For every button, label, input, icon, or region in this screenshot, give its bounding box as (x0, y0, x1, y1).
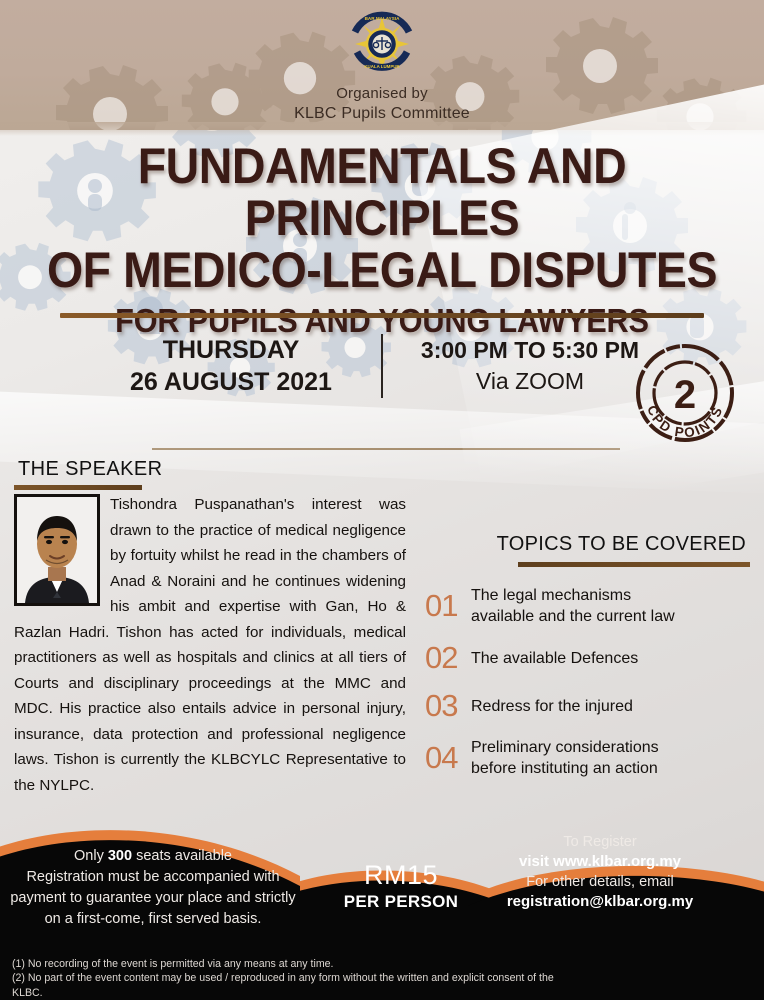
topic-number: 01 (425, 589, 471, 623)
cpd-points-value: 2 (674, 373, 696, 417)
event-date: 26 AUGUST 2021 (109, 366, 353, 398)
footer-notes: (1) No recording of the event is permitt… (12, 957, 762, 1000)
footer-note-2: (2) No part of the event content may be … (12, 971, 762, 986)
title-divider (60, 313, 704, 318)
bio-photo-indent (14, 492, 110, 610)
topic-label: The legal mechanismsavailable and the cu… (471, 585, 675, 627)
svg-text:KUALA LUMPUR: KUALA LUMPUR (364, 64, 400, 69)
seats-count: 300 (108, 848, 132, 864)
cpd-points-stamp: 2 CPD POINTS (630, 338, 740, 448)
topic-number: 02 (425, 641, 471, 675)
register-email[interactable]: registration@klbar.org.my (450, 892, 750, 912)
topic-item-01: 01 The legal mechanismsavailable and the… (425, 585, 755, 627)
event-date-block: THURSDAY 26 AUGUST 2021 (109, 334, 359, 398)
poster-root: BAR MALAYSIA KUALA LUMPUR Organised by K… (0, 0, 764, 1000)
topics-list: 01 The legal mechanismsavailable and the… (425, 585, 755, 793)
svg-text:BAR MALAYSIA: BAR MALAYSIA (365, 16, 400, 21)
meta-separator (381, 334, 383, 398)
topic-number: 03 (425, 689, 471, 723)
footer-content: Only 300 seats available Registration mu… (0, 810, 764, 1000)
topic-item-03: 03 Redress for the injured (425, 689, 755, 723)
klbc-crest-logo-icon: BAR MALAYSIA KUALA LUMPUR (345, 4, 419, 78)
speaker-section-title: THE SPEAKER (18, 458, 162, 481)
title-line-2: OF MEDICO-LEGAL DISPUTES (27, 244, 738, 296)
seats-post: seats available (132, 848, 232, 864)
meta-divider (152, 448, 620, 450)
topic-label: The available Defences (471, 648, 638, 669)
topics-title-underline (518, 562, 750, 567)
event-platform: Via ZOOM (405, 366, 655, 397)
topic-label: Redress for the injured (471, 696, 633, 717)
topic-item-02: 02 The available Defences (425, 641, 755, 675)
speaker-title-underline (14, 485, 142, 490)
seats-rest: Registration must be accompanied with pa… (10, 869, 295, 927)
topics-section-title: TOPICS TO BE COVERED (497, 533, 746, 556)
title-line-1: FUNDAMENTALS AND PRINCIPLES (27, 140, 738, 244)
footer: Only 300 seats available Registration mu… (0, 810, 764, 1000)
topic-item-04: 04 Preliminary considerationsbefore inst… (425, 737, 755, 779)
topic-number: 04 (425, 741, 471, 775)
seats-pre: Only (74, 848, 108, 864)
register-title: To Register (450, 832, 750, 852)
registration-block: To Register visit www.klbar.org.my For o… (450, 832, 750, 912)
speaker-bio: Tishondra Puspanathan's interest was dra… (14, 492, 406, 798)
register-website[interactable]: visit www.klbar.org.my (450, 852, 750, 872)
register-other-details: For other details, email (450, 872, 750, 892)
band-fade (0, 122, 764, 136)
topic-label: Preliminary considerationsbefore institu… (471, 737, 659, 779)
header-band: BAR MALAYSIA KUALA LUMPUR Organised by K… (0, 0, 764, 130)
footer-note-1: (1) No recording of the event is permitt… (12, 957, 762, 972)
event-time-block: 3:00 PM TO 5:30 PM Via ZOOM (405, 335, 655, 397)
footer-note-3: KLBC. (12, 986, 762, 1000)
seats-info: Only 300 seats available Registration mu… (8, 846, 298, 930)
organised-by-label: Organised by (0, 84, 764, 104)
organiser-name: KLBC Pupils Committee (0, 104, 764, 124)
event-day: THURSDAY (109, 334, 353, 366)
organised-by-block: Organised by KLBC Pupils Committee (0, 84, 764, 124)
event-time: 3:00 PM TO 5:30 PM (405, 335, 655, 366)
